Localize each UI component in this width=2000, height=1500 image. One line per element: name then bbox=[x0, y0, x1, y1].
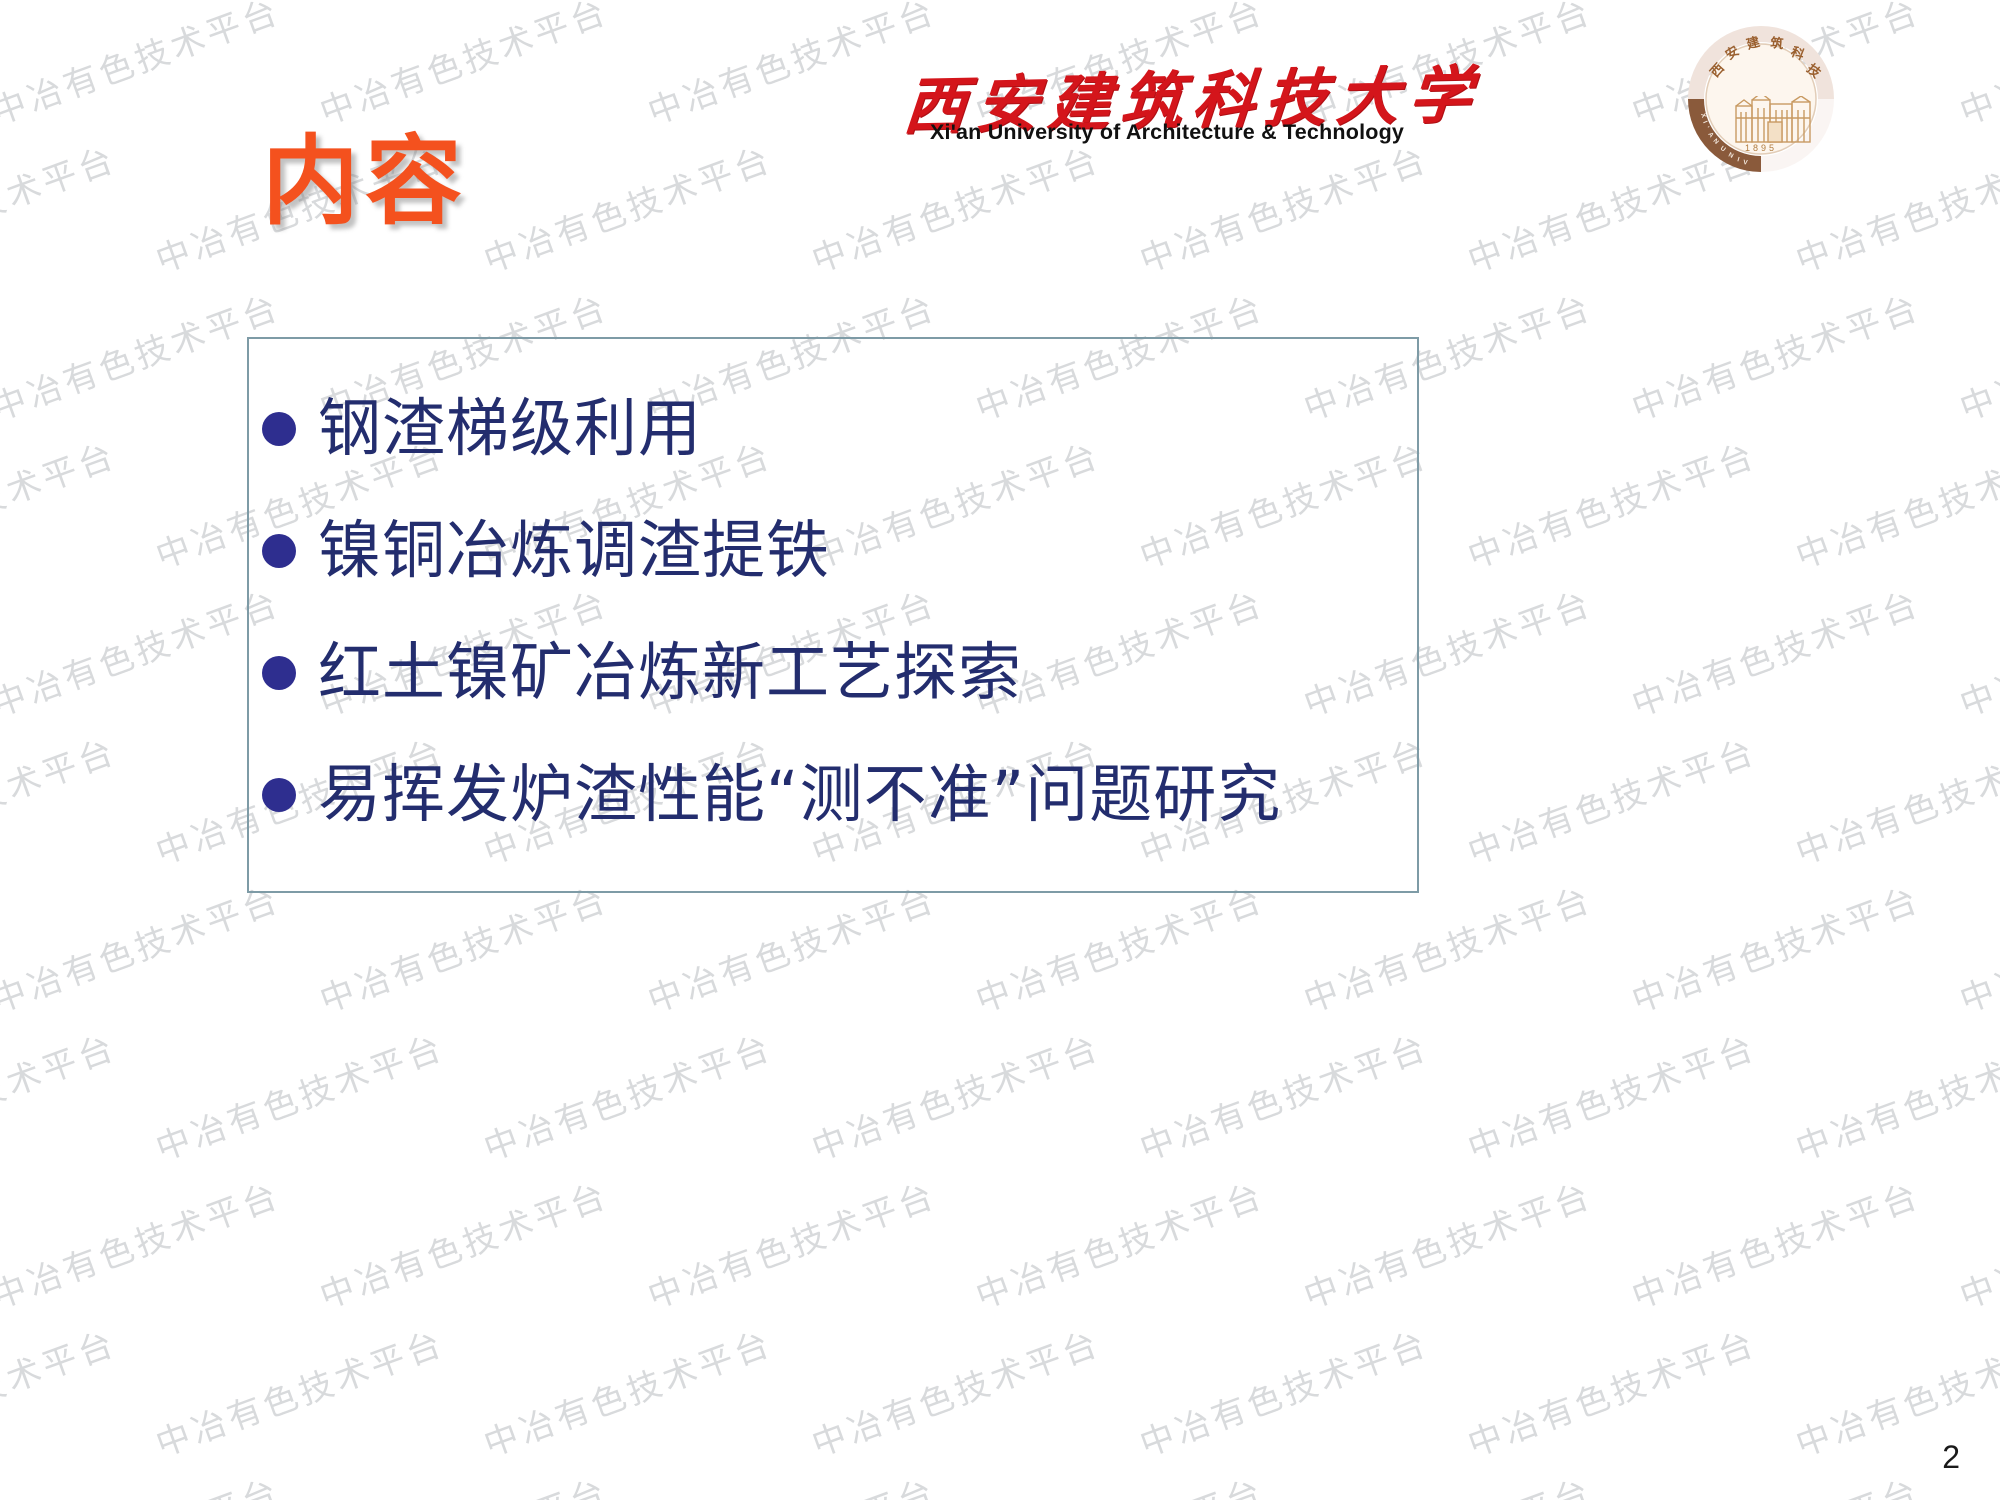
watermark-text: 中冶有色技术平台 bbox=[148, 1316, 450, 1466]
list-item-label: 镍铜冶炼调渣提铁 bbox=[318, 518, 830, 584]
watermark-text: 中冶有色技术平台 bbox=[1624, 280, 1926, 430]
list-item: 易挥发炉渣性能“测不准”问题研究 bbox=[262, 734, 1552, 856]
watermark-text: 中冶有色技术平台 bbox=[0, 576, 286, 726]
bullet-dot-icon bbox=[262, 412, 296, 446]
bullet-list: 钢渣梯级利用 镍铜冶炼调渣提铁 红土镍矿冶炼新工艺探索 易挥发炉渣性能“测不准”… bbox=[262, 368, 1552, 856]
watermark-text: 中冶有色技术平台 bbox=[0, 132, 122, 282]
page-number: 2 bbox=[1942, 1439, 1960, 1476]
bullet-dot-icon bbox=[262, 656, 296, 690]
list-item-label: 易挥发炉渣性能“测不准”问题研究 bbox=[318, 762, 1281, 828]
watermark-text: 中冶有色技术平台 bbox=[0, 1168, 286, 1318]
list-item-label: 钢渣梯级利用 bbox=[318, 396, 702, 462]
list-item: 钢渣梯级利用 bbox=[262, 368, 1552, 490]
watermark-text: 中冶有色技术平台 bbox=[0, 1316, 122, 1466]
watermark-text: 中冶有色技术平台 bbox=[476, 1316, 778, 1466]
watermark-text: 中冶有色技术平台 bbox=[640, 0, 942, 134]
watermark-text: 中冶有色技术平台 bbox=[1624, 576, 1926, 726]
watermark-text: 中冶有色技术平台 bbox=[0, 280, 286, 430]
watermark-text: 中冶有色技术平台 bbox=[640, 1168, 942, 1318]
watermark-text: 中冶有色技术平台 bbox=[312, 1168, 614, 1318]
watermark-text: 中冶有色技术平台 bbox=[1624, 1464, 1926, 1500]
watermark-text: 中冶有色技术平台 bbox=[1460, 1316, 1762, 1466]
watermark-text: 中冶有色技术平台 bbox=[0, 872, 286, 1022]
watermark-text: 中冶有色技术平台 bbox=[312, 0, 614, 134]
watermark-text: 中冶有色技术平台 bbox=[0, 1464, 286, 1500]
watermark-text: 中冶有色技术平台 bbox=[1460, 1020, 1762, 1170]
watermark-text: 中冶有色技术平台 bbox=[1132, 1020, 1434, 1170]
brand-name-english: Xi'an University of Architecture & Techn… bbox=[930, 120, 1404, 145]
university-seal-icon: 1895 西 安 建 筑 科 技 X I ' A N U N I V bbox=[1680, 18, 1842, 180]
bullet-dot-icon bbox=[262, 534, 296, 568]
watermark-text: 中冶有色技术平台 bbox=[0, 0, 286, 134]
watermark-text: 中冶有色技术平台 bbox=[1952, 280, 2000, 430]
watermark-text: 中冶有色技术平台 bbox=[0, 724, 122, 874]
watermark-text: 中冶有色技术平台 bbox=[148, 1020, 450, 1170]
watermark-text: 中冶有色技术平台 bbox=[804, 1020, 1106, 1170]
watermark-text: 中冶有色技术平台 bbox=[968, 872, 1270, 1022]
list-item: 镍铜冶炼调渣提铁 bbox=[262, 490, 1552, 612]
watermark-text: 中冶有色技术平台 bbox=[1624, 872, 1926, 1022]
watermark-text: 中冶有色技术平台 bbox=[1952, 872, 2000, 1022]
watermark-text: 中冶有色技术平台 bbox=[1132, 1316, 1434, 1466]
watermark-text: 中冶有色技术平台 bbox=[1296, 1168, 1598, 1318]
watermark-text: 中冶有色技术平台 bbox=[804, 1316, 1106, 1466]
watermark-text: 中冶有色技术平台 bbox=[1788, 1316, 2000, 1466]
watermark-text: 中冶有色技术平台 bbox=[640, 872, 942, 1022]
watermark-text: 中冶有色技术平台 bbox=[476, 132, 778, 282]
page-title: 内容 bbox=[262, 133, 468, 230]
watermark-text: 中冶有色技术平台 bbox=[0, 1020, 122, 1170]
svg-text:筑: 筑 bbox=[1770, 35, 1785, 52]
watermark-text: 中冶有色技术平台 bbox=[1788, 724, 2000, 874]
watermark-text: 中冶有色技术平台 bbox=[476, 1020, 778, 1170]
watermark-text: 中冶有色技术平台 bbox=[312, 872, 614, 1022]
watermark-text: 中冶有色技术平台 bbox=[1296, 1464, 1598, 1500]
watermark-text: 中冶有色技术平台 bbox=[1788, 1020, 2000, 1170]
watermark-text: 中冶有色技术平台 bbox=[1952, 576, 2000, 726]
watermark-text: 中冶有色技术平台 bbox=[1296, 872, 1598, 1022]
watermark-text: 中冶有色技术平台 bbox=[1624, 1168, 1926, 1318]
watermark-text: 中冶有色技术平台 bbox=[1952, 1168, 2000, 1318]
watermark-text: 中冶有色技术平台 bbox=[968, 1168, 1270, 1318]
watermark-text: 中冶有色技术平台 bbox=[968, 1464, 1270, 1500]
watermark-text: 中冶有色技术平台 bbox=[0, 428, 122, 578]
list-item: 红土镍矿冶炼新工艺探索 bbox=[262, 612, 1552, 734]
seal-year: 1895 bbox=[1745, 143, 1777, 153]
watermark-text: 中冶有色技术平台 bbox=[640, 1464, 942, 1500]
bullet-dot-icon bbox=[262, 778, 296, 812]
list-item-label: 红土镍矿冶炼新工艺探索 bbox=[318, 640, 1022, 706]
watermark-text: 中冶有色技术平台 bbox=[312, 1464, 614, 1500]
watermark-text: 中冶有色技术平台 bbox=[1788, 428, 2000, 578]
